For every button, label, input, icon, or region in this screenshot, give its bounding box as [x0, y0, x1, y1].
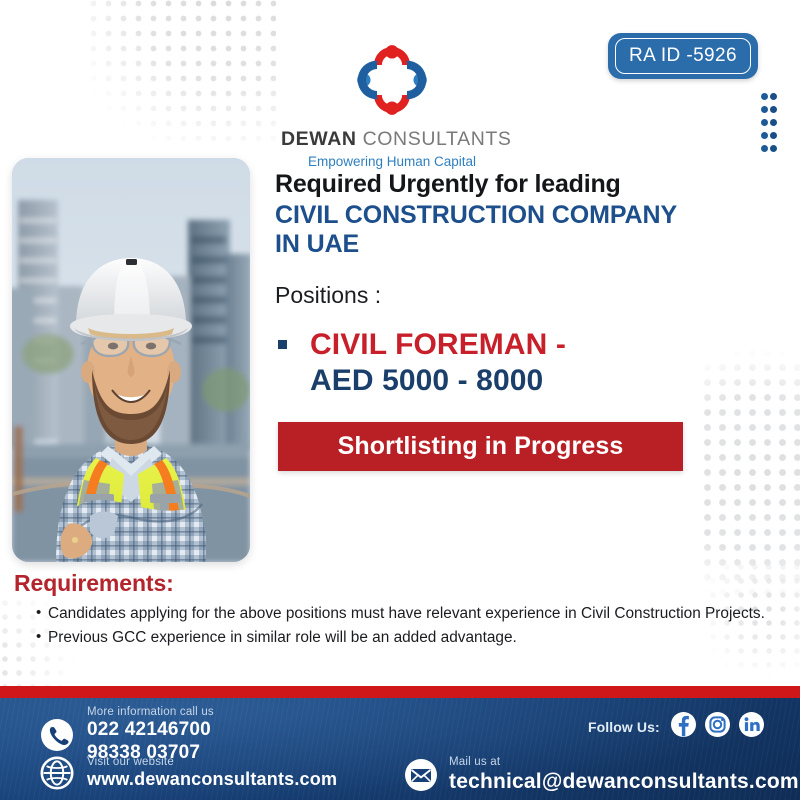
footer-email-block: Mail us at technical@dewanconsultants.co…	[404, 756, 799, 794]
list-item: Previous GCC experience in similar role …	[36, 627, 774, 649]
phone-icon	[40, 718, 74, 752]
dewan-people-circle-logo-icon	[348, 36, 436, 124]
instagram-icon[interactable]	[705, 712, 730, 742]
facebook-icon[interactable]	[671, 712, 696, 742]
dot	[770, 132, 777, 139]
list-item: Candidates applying for the above positi…	[36, 603, 774, 625]
blue-dot-grid-decoration	[761, 93, 779, 158]
headline-line-2: CIVIL CONSTRUCTION COMPANY IN UAE	[275, 201, 735, 260]
requirements-list: Candidates applying for the above positi…	[14, 603, 774, 649]
status-badge: Shortlisting in Progress	[338, 432, 624, 461]
job-content-column: Required Urgently for leading CIVIL CONS…	[275, 170, 735, 471]
dot	[770, 119, 777, 126]
worker-photo	[12, 158, 250, 562]
envelope-icon	[404, 758, 438, 792]
website-url[interactable]: www.dewanconsultants.com	[87, 769, 337, 791]
positions-list: CIVIL FOREMAN - AED 5000 - 8000	[275, 327, 735, 400]
position-title: CIVIL FOREMAN -	[310, 327, 735, 364]
dot	[761, 106, 768, 113]
headline-line-1: Required Urgently for leading	[275, 170, 735, 199]
phone-number-1: 022 42146700	[87, 719, 214, 742]
headline-location: IN UAE	[275, 230, 359, 258]
email-caption: Mail us at	[449, 756, 799, 769]
dot	[761, 119, 768, 126]
shortlisting-status-banner: Shortlisting in Progress	[278, 422, 683, 471]
requirements-title: Requirements:	[14, 570, 774, 597]
position-salary: AED 5000 - 8000	[310, 363, 735, 400]
phone-caption: More information call us	[87, 706, 214, 719]
positions-label: Positions :	[275, 282, 735, 309]
dot	[761, 132, 768, 139]
list-item: CIVIL FOREMAN - AED 5000 - 8000	[275, 327, 735, 400]
footer-social-block: Follow Us:	[588, 712, 773, 742]
follow-us-label: Follow Us:	[588, 719, 660, 735]
requirements-section: Requirements: Candidates applying for th…	[14, 570, 774, 651]
company-logo-block: DEWAN CONSULTANTS Empowering Human Capit…	[281, 36, 503, 169]
footer-website-block: Visit our website www.dewanconsultants.c…	[40, 756, 337, 791]
dot	[770, 145, 777, 152]
ra-id-badge: RA ID -5926	[608, 33, 758, 79]
company-name-rest: CONSULTANTS	[357, 128, 512, 150]
ra-id-badge-frame: RA ID -5926	[615, 38, 751, 74]
website-text-group: Visit our website www.dewanconsultants.c…	[87, 756, 337, 791]
company-name: DEWAN CONSULTANTS	[281, 128, 503, 151]
company-tagline: Empowering Human Capital	[281, 154, 503, 169]
ra-id-label: RA ID -5926	[629, 45, 737, 67]
worker-photo-illustration	[12, 158, 250, 562]
square-bullet-icon	[278, 340, 287, 349]
halftone-pattern-top-left	[86, 0, 276, 141]
linkedin-icon[interactable]	[739, 712, 764, 742]
dot	[761, 145, 768, 152]
dot	[770, 106, 777, 113]
email-address[interactable]: technical@dewanconsultants.com	[449, 769, 799, 794]
website-caption: Visit our website	[87, 756, 337, 769]
company-name-bold: DEWAN	[281, 128, 357, 150]
headline-company: CIVIL CONSTRUCTION COMPANY	[275, 201, 677, 229]
email-text-group: Mail us at technical@dewanconsultants.co…	[449, 756, 799, 794]
dot	[770, 93, 777, 100]
footer-contact-bar: More information call us 022 42146700 98…	[0, 698, 800, 800]
dot	[761, 93, 768, 100]
globe-icon	[40, 756, 74, 790]
recruitment-poster: RA ID -5926	[0, 0, 800, 800]
footer-red-divider	[0, 686, 800, 698]
